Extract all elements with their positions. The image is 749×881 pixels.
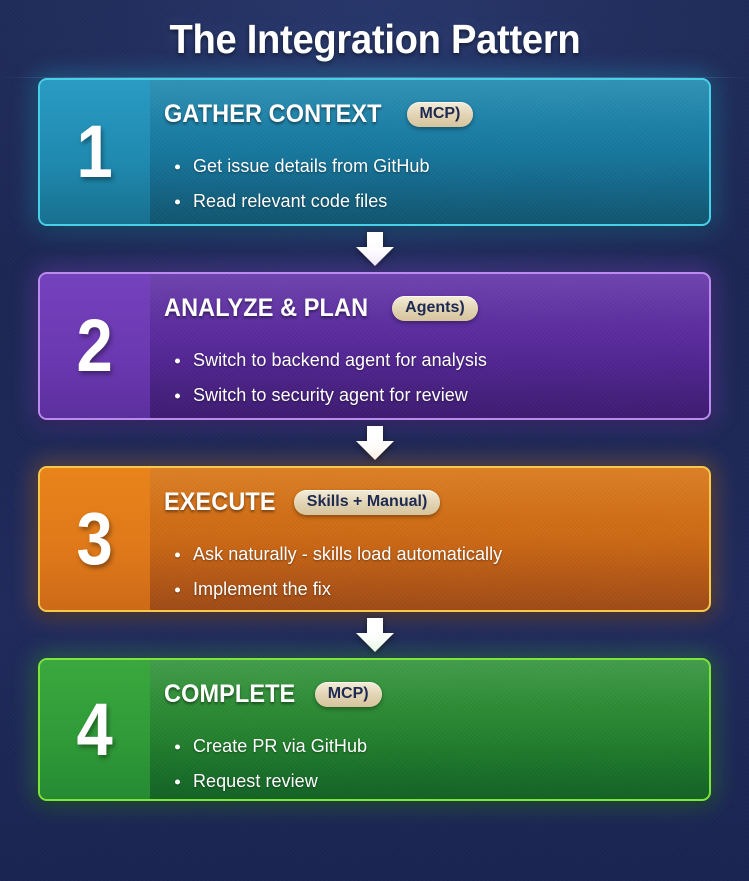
step-title-1: GATHER CONTEXT [164,100,382,129]
step-number-3: 3 [77,502,113,576]
step-badge-3: Skills + Manual) [294,490,440,515]
step-bullets-3: Ask naturally - skills load automaticall… [164,537,687,607]
bullet-dot-icon [175,744,180,749]
step-number-panel-3: 3 [40,468,150,610]
bullet-text: Create PR via GitHub [193,736,367,756]
bullet-dot-icon [175,358,180,363]
connector-2 [38,420,711,466]
infographic-page: The Integration Pattern 1 GATHER CONTEXT… [0,0,749,881]
step-card-4[interactable]: 4 COMPLETE MCP) Create PR via GitHub Req… [38,658,711,801]
list-item: Ask naturally - skills load automaticall… [164,537,687,572]
step-body-4: COMPLETE MCP) Create PR via GitHub Reque… [150,660,709,799]
bullet-text: Ask naturally - skills load automaticall… [193,544,502,564]
connector-1 [38,226,711,272]
step-body-1: GATHER CONTEXT MCP) Get issue details fr… [150,80,709,224]
step-badge-2: Agents) [392,296,478,321]
step-bullets-4: Create PR via GitHub Request review [164,729,687,799]
list-item: Implement the fix [164,572,687,607]
step-header-row-2: ANALYZE & PLAN Agents) [164,294,687,323]
step-card-1[interactable]: 1 GATHER CONTEXT MCP) Get issue details … [38,78,711,226]
list-item: Switch to security agent for review [164,378,687,413]
step-body-3: EXECUTE Skills + Manual) Ask naturally -… [150,468,709,610]
step-number-1: 1 [77,115,113,189]
step-number-panel-2: 2 [40,274,150,418]
bullet-text: Implement the fix [193,579,331,599]
bullet-dot-icon [175,587,180,592]
step-title-4: COMPLETE [164,680,295,709]
step-number-panel-1: 1 [40,80,150,224]
step-number-2: 2 [77,309,113,383]
step-title-3: EXECUTE [164,488,276,517]
bullet-text: Switch to security agent for review [193,385,468,405]
step-title-2: ANALYZE & PLAN [164,294,368,323]
bullet-text: Switch to backend agent for analysis [193,350,487,370]
list-item: Create PR via GitHub [164,729,687,764]
list-item: Read relevant code files [164,184,687,219]
bullet-dot-icon [175,164,180,169]
bullet-text: Get issue details from GitHub [193,156,430,176]
step-bullets-2: Switch to backend agent for analysis Swi… [164,343,687,413]
list-item: Get issue details from GitHub [164,149,687,184]
step-card-2[interactable]: 2 ANALYZE & PLAN Agents) Switch to backe… [38,272,711,420]
page-title: The Integration Pattern [169,16,580,63]
arrow-down-icon [356,232,394,266]
bullet-dot-icon [175,393,180,398]
list-item: Switch to backend agent for analysis [164,343,687,378]
step-card-3[interactable]: 3 EXECUTE Skills + Manual) Ask naturally… [38,466,711,612]
bullet-text: Request review [193,771,318,791]
step-number-4: 4 [77,693,113,767]
step-header-row-4: COMPLETE MCP) [164,680,687,709]
list-item: Request review [164,764,687,799]
step-badge-1: MCP) [407,102,474,127]
step-header-row-1: GATHER CONTEXT MCP) [164,100,687,129]
arrow-down-icon [356,426,394,460]
step-badge-4: MCP) [315,682,382,707]
bullet-dot-icon [175,552,180,557]
header: The Integration Pattern [0,0,749,78]
arrow-down-icon [356,618,394,652]
step-number-panel-4: 4 [40,660,150,799]
bullet-dot-icon [175,199,180,204]
steps-list: 1 GATHER CONTEXT MCP) Get issue details … [0,78,749,801]
bullet-dot-icon [175,779,180,784]
bullet-text: Read relevant code files [193,191,387,211]
step-bullets-1: Get issue details from GitHub Read relev… [164,149,687,219]
connector-3 [38,612,711,658]
step-header-row-3: EXECUTE Skills + Manual) [164,488,687,517]
step-body-2: ANALYZE & PLAN Agents) Switch to backend… [150,274,709,418]
